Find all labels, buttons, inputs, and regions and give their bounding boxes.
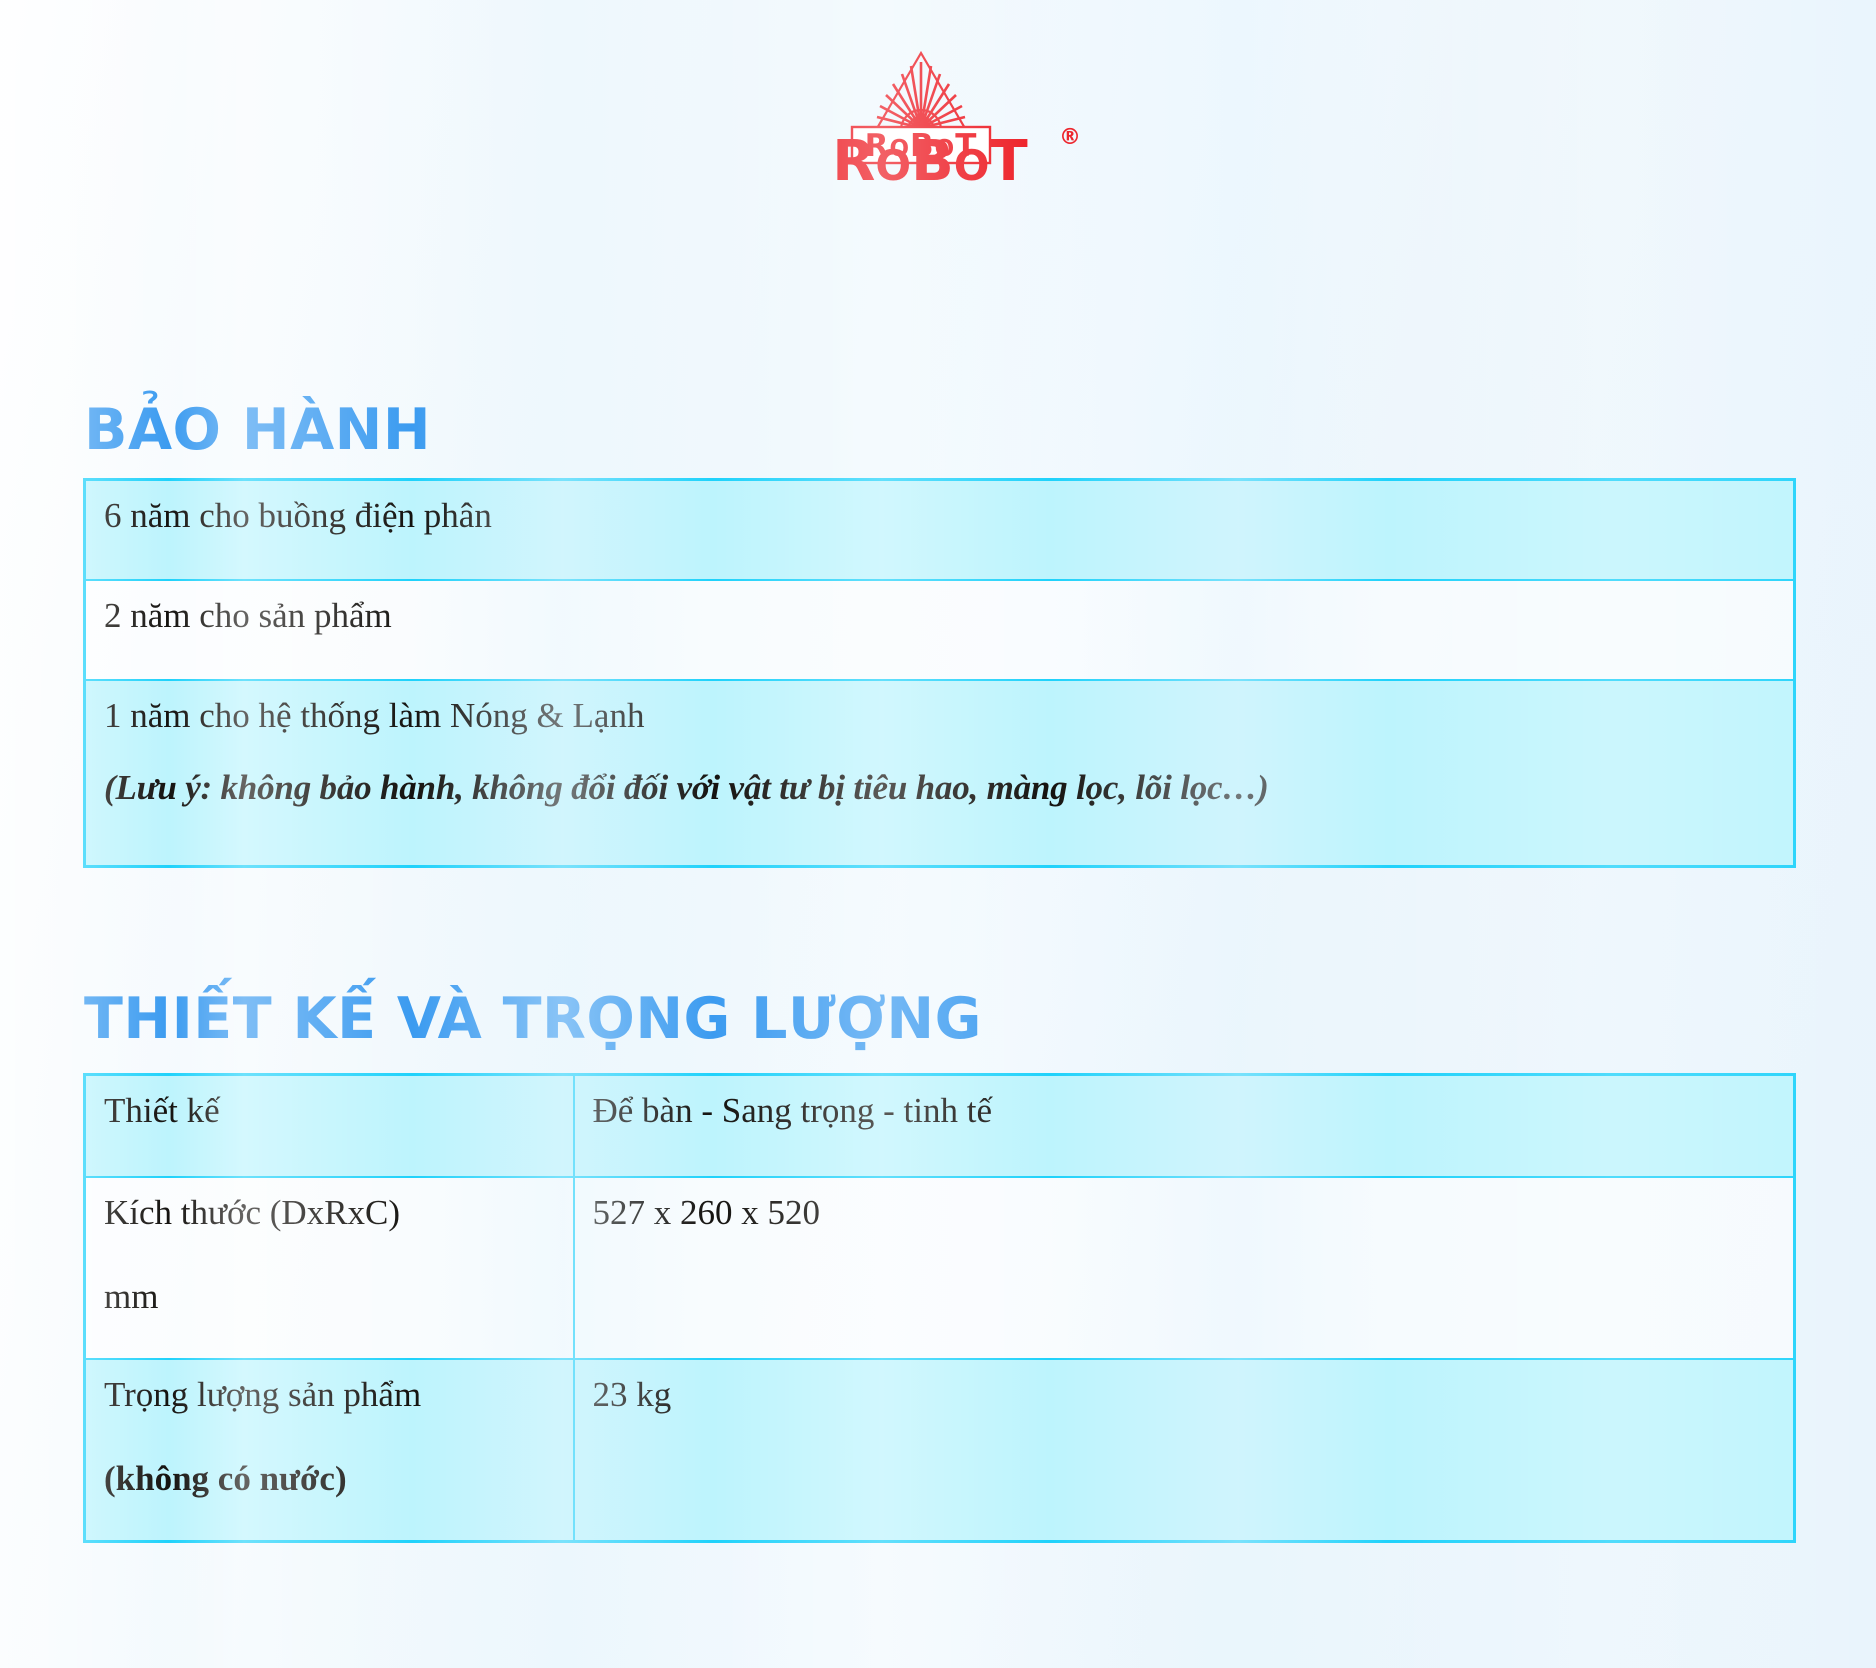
warranty-item-1: 6 năm cho buồng điện phân [85, 480, 1795, 581]
warranty-item-3-cell: 1 năm cho hệ thống làm Nóng & Lạnh (Lưu … [85, 680, 1795, 867]
dimensions-label: Kích thước (DxRxC) [104, 1193, 400, 1232]
spec-sheet-page: ROBOT ROBOT ® BẢO HÀNH 6 năm cho buồng đ… [0, 0, 1876, 1668]
dimensions-value: 527 x 260 x 520 [574, 1177, 1795, 1359]
svg-text:ROBOT: ROBOT [832, 129, 1027, 182]
svg-text:®: ® [1059, 125, 1081, 150]
brand-logo-container: ROBOT ROBOT ® [0, 44, 1876, 182]
robot-logo: ROBOT ROBOT ® [782, 44, 1094, 182]
design-value: Để bàn - Sang trọng - tinh tế [574, 1075, 1795, 1178]
table-row: 6 năm cho buồng điện phân [85, 480, 1795, 581]
page-title-design: THIẾT KẾ VÀ TRỌNG LƯỢNG [84, 991, 982, 1048]
weight-label-note: (không có nước) [104, 1456, 555, 1502]
table-row: Thiết kế Để bàn - Sang trọng - tinh tế [85, 1075, 1795, 1178]
page-title-warranty: BẢO HÀNH [84, 402, 431, 459]
weight-label-cell: Trọng lượng sản phẩm (không có nước) [85, 1359, 574, 1542]
design-weight-table: Thiết kế Để bàn - Sang trọng - tinh tế K… [83, 1073, 1796, 1543]
weight-value: 23 kg [574, 1359, 1795, 1542]
dimensions-label-cell: Kích thước (DxRxC) mm [85, 1177, 574, 1359]
warranty-table: 6 năm cho buồng điện phân 2 năm cho sản … [83, 478, 1796, 868]
table-row: 2 năm cho sản phẩm [85, 580, 1795, 680]
warranty-item-2: 2 năm cho sản phẩm [85, 580, 1795, 680]
design-label: Thiết kế [85, 1075, 574, 1178]
warranty-note: (Lưu ý: không bảo hành, không đổi đối vớ… [104, 765, 1775, 811]
table-row: 1 năm cho hệ thống làm Nóng & Lạnh (Lưu … [85, 680, 1795, 867]
table-row: Trọng lượng sản phẩm (không có nước) 23 … [85, 1359, 1795, 1542]
warranty-item-3: 1 năm cho hệ thống làm Nóng & Lạnh [104, 696, 644, 735]
dimensions-unit: mm [104, 1274, 555, 1320]
table-row: Kích thước (DxRxC) mm 527 x 260 x 520 [85, 1177, 1795, 1359]
weight-label: Trọng lượng sản phẩm [104, 1375, 421, 1414]
